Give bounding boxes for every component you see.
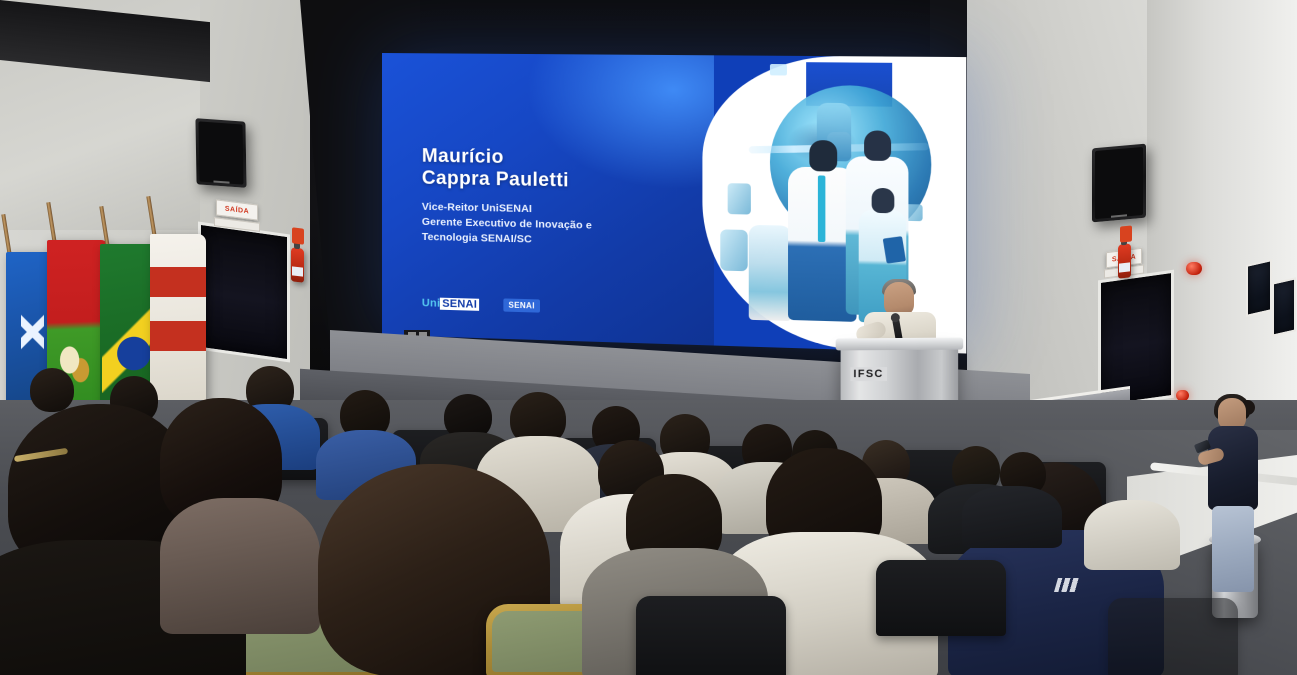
seat-chair [1108,598,1238,675]
wall-window-left [1246,259,1272,317]
doorway-left[interactable] [198,222,290,363]
podium-logo: IFSC [850,367,886,381]
extinguisher-label [292,266,303,276]
speaker-brand-mark [1111,214,1127,217]
senai-logo: SENAI [503,298,540,312]
slide-logo-row: UniSENAI SENAI [422,296,540,313]
wall-speaker-left [195,118,246,188]
audience-shoulders [962,486,1062,548]
seat-chair [876,560,1006,636]
wall-speaker-right [1092,144,1146,223]
doorway-right[interactable] [1098,270,1174,409]
adidas-logo-icon [1054,578,1082,592]
satellite-icon [770,64,787,76]
speaker-grille-icon [1095,147,1143,219]
alarm-light-icon [1186,262,1202,275]
extinguisher-label [1119,262,1130,272]
audience-head [30,368,74,412]
collage-fragment-2 [720,230,747,272]
flag-cloth [150,234,206,420]
seat-chair [636,596,786,675]
standing-attendee [1196,398,1262,598]
attendee-legs [1212,506,1254,592]
slide-speaker-name: Maurício Cappra Pauletti [422,146,657,195]
extinguisher-tag-left [292,227,304,244]
speaker-brand-mark [213,180,229,183]
collage-fragment-1 [728,183,751,214]
slide-speaker-role: Vice-Reitor UniSENAI Gerente Executivo d… [422,200,641,250]
extinguisher-tag-right [1120,225,1132,242]
slide-left-panel: Maurício Cappra Pauletti Vice-Reitor Uni… [382,53,714,346]
presenter-head [884,282,914,316]
audience-shoulders [1084,500,1180,570]
unisenai-logo-prefix: Uni [422,297,440,310]
fire-extinguisher-right [1118,243,1131,278]
unisenai-logo: UniSENAI [422,297,479,311]
speaker-grille-icon [198,121,243,184]
unisenai-logo-suffix: SENAI [440,297,479,310]
podium-top-surface [836,338,964,351]
slide-name-line-2: Cappra Pauletti [422,168,657,195]
wall-window-right [1272,277,1296,337]
attendee-torso [1208,426,1258,510]
audience-shoulders [160,498,320,634]
flag-city [150,234,206,420]
auditorium-scene: Maurício Cappra Pauletti Vice-Reitor Uni… [0,0,1297,675]
collage-person-child [749,224,791,320]
fire-extinguisher-left [291,247,304,283]
